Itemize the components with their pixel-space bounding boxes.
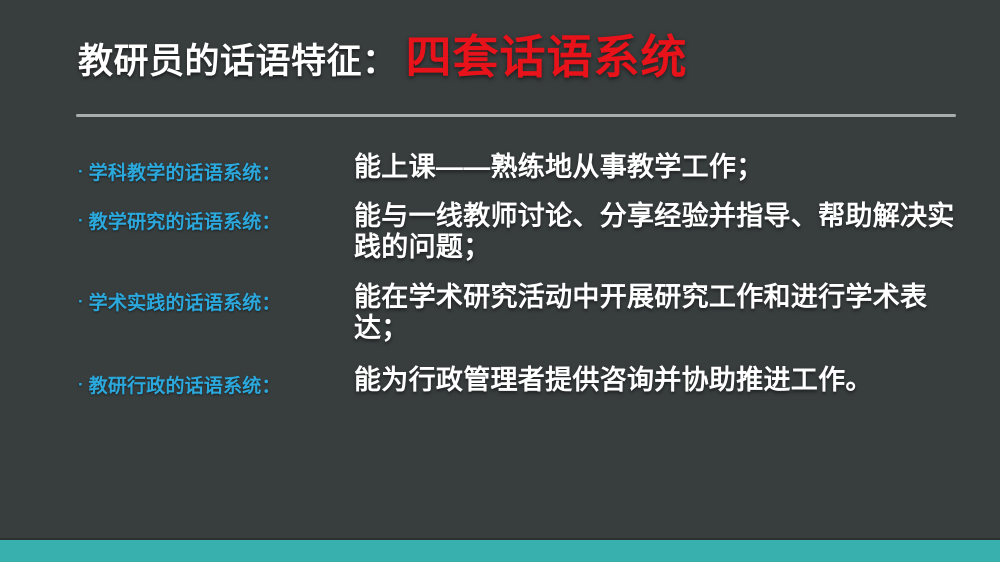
list-item-label-cell: · 学科教学的话语系统： xyxy=(78,152,354,185)
bullet-dot-icon: · xyxy=(78,163,84,180)
list-item-description: 能与一线教师讨论、分享经验并指导、帮助解决实践的问题； xyxy=(354,201,978,262)
list-item-description: 能为行政管理者提供咨询并协助推进工作。 xyxy=(354,365,978,396)
discourse-system-list: · 学科教学的话语系统： 能上课——熟练地从事教学工作； · 教学研究的话语系统… xyxy=(78,152,978,398)
bullet-dot-icon: · xyxy=(78,212,84,229)
bullet-dot-icon: · xyxy=(78,293,84,310)
list-item-label: 教学研究的话语系统： xyxy=(89,207,281,234)
list-item-label: 学术实践的话语系统： xyxy=(89,288,281,315)
list-item: · 教研行政的话语系统： 能为行政管理者提供咨询并协助推进工作。 xyxy=(78,365,978,398)
list-item-label-cell: · 教研行政的话语系统： xyxy=(78,365,354,398)
page-title-main: 教研员的话语特征： xyxy=(78,33,398,84)
list-item-label-cell: · 学术实践的话语系统： xyxy=(78,282,354,315)
footer-accent-bar xyxy=(0,540,1000,562)
presentation-slide: 教研员的话语特征： 四套话语系统 · 学科教学的话语系统： 能上课——熟练地从事… xyxy=(0,0,1000,562)
list-item: · 学科教学的话语系统： 能上课——熟练地从事教学工作； xyxy=(78,152,978,185)
list-item-label-cell: · 教学研究的话语系统： xyxy=(78,201,354,234)
bullet-dot-icon: · xyxy=(78,376,84,393)
list-item: · 学术实践的话语系统： 能在学术研究活动中开展研究工作和进行学术表达； xyxy=(78,282,978,343)
list-item-label: 教研行政的话语系统： xyxy=(89,371,281,398)
list-item: · 教学研究的话语系统： 能与一线教师讨论、分享经验并指导、帮助解决实践的问题； xyxy=(78,201,978,262)
list-item-description: 能在学术研究活动中开展研究工作和进行学术表达； xyxy=(354,282,978,343)
list-item-description: 能上课——熟练地从事教学工作； xyxy=(354,152,978,183)
page-title-accent: 四套话语系统 xyxy=(406,34,688,80)
title-divider xyxy=(76,114,956,117)
slide-title: 教研员的话语特征： 四套话语系统 xyxy=(78,33,688,84)
list-item-label: 学科教学的话语系统： xyxy=(89,158,281,185)
